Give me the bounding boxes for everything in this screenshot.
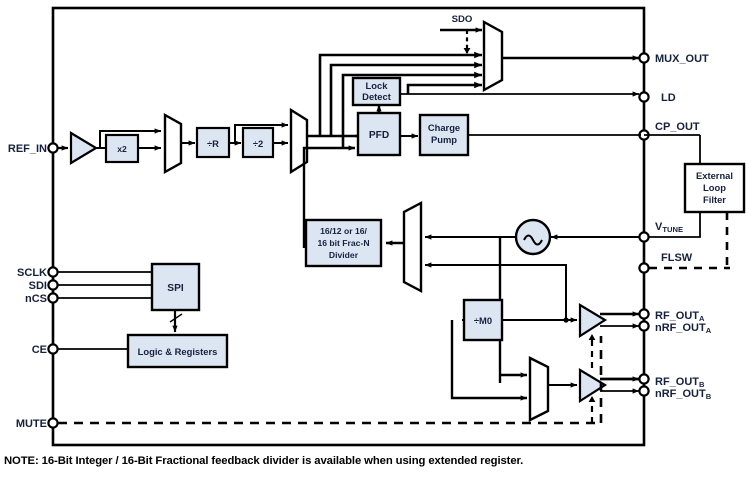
pin-dot-flsw (639, 263, 648, 272)
pin-label-sdi: SDI (29, 280, 47, 292)
mux-mux-out-select[interactable] (484, 22, 502, 90)
pin-label-sclk: SCLK (17, 267, 47, 279)
wire-lockdetect-to-muxout (408, 85, 482, 94)
block-external-loop-filter-label-1: External (696, 170, 733, 181)
block-charge-pump-label-1: Charge (428, 122, 460, 133)
block-pfd-label: PFD (369, 130, 389, 141)
block-lock-detect-label-2: Detect (362, 91, 391, 102)
wire-mute-arrow-a (589, 334, 596, 340)
pin-label-ref-in: REF_IN (8, 143, 47, 155)
block-logic-registers-label: Logic & Registers (138, 346, 218, 357)
pin-label-mute: MUTE (16, 418, 47, 430)
block-external-loop-filter-label-2: Loop (703, 182, 726, 193)
block-r-divider-label: ÷R (207, 138, 219, 149)
pin-dot-vtune (639, 232, 648, 241)
mux-feedback-select[interactable] (404, 203, 421, 291)
label-sdo: SDO (452, 14, 473, 25)
wire-sdo-arrowhead (464, 48, 471, 54)
pin-dot-sclk (48, 267, 57, 276)
vco-symbol (516, 220, 550, 254)
pin-label-nrf-out-b: nRF_OUTB (655, 388, 712, 401)
block-lock-detect-label-1: Lock (366, 80, 389, 91)
pin-label-ld: LD (661, 92, 676, 104)
pin-label-flsw: FLSW (661, 252, 693, 264)
pin-label-vtune: VTUNE (655, 221, 683, 234)
pin-label-nrf-out-a: nRF_OUTA (655, 322, 712, 335)
pin-dot-rf-out-a (639, 309, 648, 318)
block-diagram-page: REF_IN SCLK SDI nCS CE MUTE MUX_OUT LD C… (0, 0, 746, 485)
pin-dot-ref-in (48, 143, 57, 152)
pin-label-ncs: nCS (25, 293, 47, 305)
block-frac-n-divider-label-2: 16 bit Frac-N (317, 238, 369, 248)
pin-label-ce: CE (32, 344, 47, 356)
pin-dot-nrf-out-a (639, 321, 648, 330)
block-doubler-label: x2 (117, 144, 127, 154)
pin-dot-ce (48, 344, 57, 353)
block-spi-label: SPI (167, 283, 184, 294)
diagram-note: NOTE: 16-Bit Integer / 16-Bit Fractional… (4, 455, 742, 467)
block-charge-pump-label-2: Pump (431, 134, 457, 145)
pin-dot-rf-out-b (639, 374, 648, 383)
block-m0-divider-label: ÷M0 (474, 315, 492, 326)
pin-dot-nrf-out-b (639, 386, 648, 395)
block-frac-n-divider-label-3: Divider (329, 250, 359, 260)
pin-dot-mute (48, 418, 57, 427)
pin-dot-sdi (48, 280, 57, 289)
junction-m0-out (563, 317, 568, 322)
block-external-loop-filter-label-3: Filter (703, 194, 726, 205)
block-div2-label: ÷2 (253, 138, 263, 149)
block-frac-n-divider-label-1: 16/12 or 16/ (320, 226, 367, 236)
mux-ref-select[interactable] (165, 115, 181, 172)
pin-label-cp-out: CP_OUT (655, 121, 700, 133)
pin-label-mux-out: MUX_OUT (655, 53, 709, 65)
pll-block-diagram: REF_IN SCLK SDI nCS CE MUTE MUX_OUT LD C… (0, 0, 746, 485)
pin-dot-mux-out (639, 53, 648, 62)
mux-output-b-select[interactable] (530, 358, 548, 420)
input-buffer-amp (71, 133, 96, 163)
output-buffer-a (580, 305, 605, 336)
wire-mute-arrow-b (589, 396, 596, 402)
pin-dot-ld (639, 92, 648, 101)
pin-dot-ncs (48, 293, 57, 302)
